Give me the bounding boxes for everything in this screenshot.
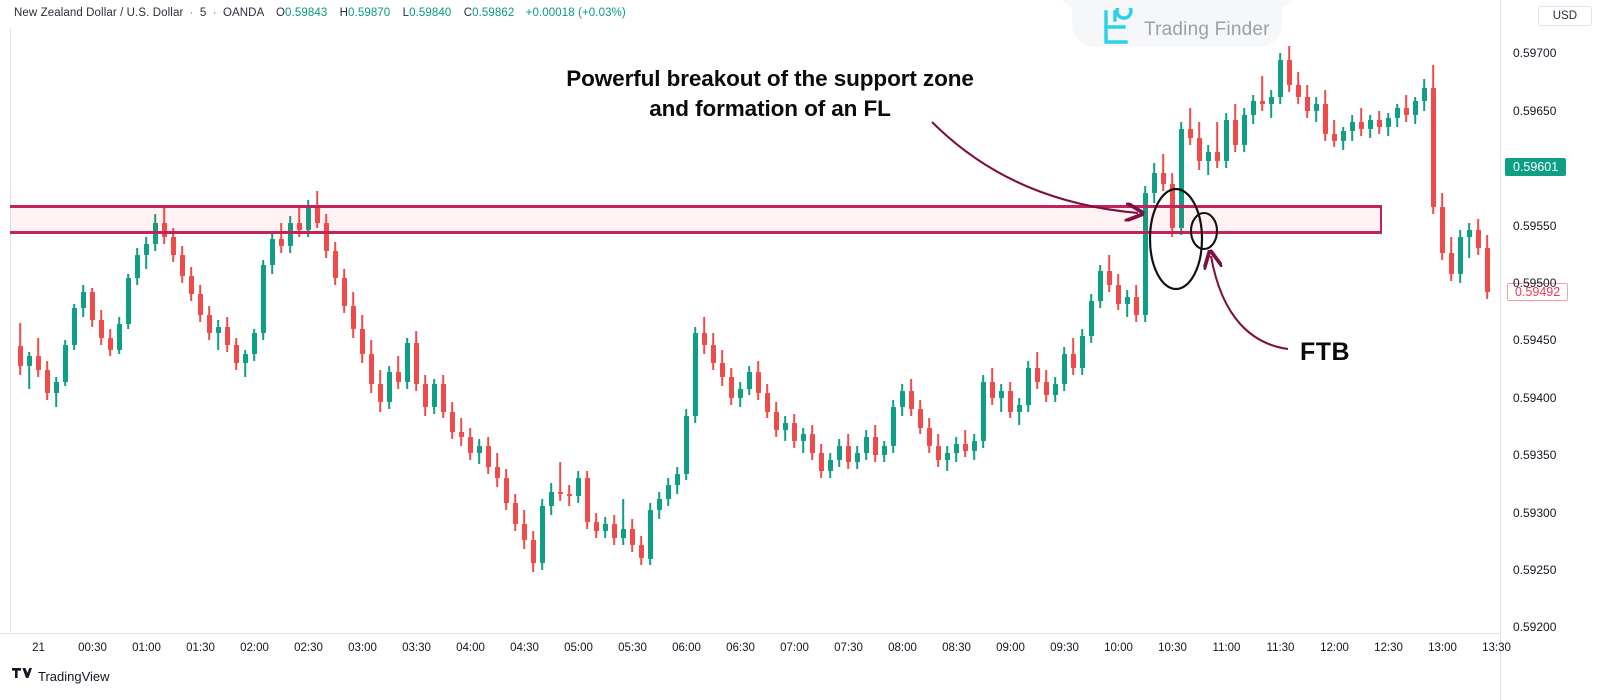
legend-separator-1: · xyxy=(187,7,197,19)
interval-label[interactable]: 5 xyxy=(200,7,207,19)
candle-body xyxy=(1260,101,1266,103)
candle-body xyxy=(675,474,681,485)
candle xyxy=(1278,28,1284,632)
price-tick-label: 0.59350 xyxy=(1513,448,1556,462)
candle xyxy=(1080,28,1086,632)
ohlc-high-value: 0.59870 xyxy=(348,7,390,19)
candle xyxy=(1377,28,1383,632)
candle-body xyxy=(1440,207,1446,253)
candle-body xyxy=(27,356,33,365)
price-tick-label: 0.59700 xyxy=(1513,46,1556,60)
last-price-badge: 0.59601 xyxy=(1505,158,1566,176)
candle xyxy=(225,28,231,632)
candle xyxy=(1485,28,1491,632)
candle-body xyxy=(45,370,51,393)
time-tick-label: 04:30 xyxy=(510,642,539,654)
candle xyxy=(207,28,213,632)
candle-body xyxy=(1422,88,1428,102)
candle-body xyxy=(1467,230,1473,237)
candle-body xyxy=(702,333,708,344)
candle-body xyxy=(558,492,564,494)
candle xyxy=(99,28,105,632)
candle xyxy=(135,28,141,632)
time-tick-label: 10:00 xyxy=(1104,642,1133,654)
candle-body xyxy=(864,437,870,453)
candle-body xyxy=(1008,391,1014,412)
candle-body xyxy=(630,529,636,545)
candle xyxy=(1350,28,1356,632)
candle-body xyxy=(1152,173,1158,194)
candle-body xyxy=(720,363,726,377)
candle-body xyxy=(1026,368,1032,405)
candle-body xyxy=(387,372,393,402)
candle-body xyxy=(63,345,69,382)
candle-body xyxy=(180,255,186,276)
candle-body xyxy=(765,393,771,411)
candle xyxy=(1476,28,1482,632)
candle-wick xyxy=(623,499,625,545)
time-tick-label: 07:00 xyxy=(780,642,809,654)
candle xyxy=(243,28,249,632)
candle xyxy=(1341,28,1347,632)
candle xyxy=(180,28,186,632)
candle xyxy=(306,28,312,632)
candle xyxy=(432,28,438,632)
time-tick-label: 04:00 xyxy=(456,642,485,654)
candle-body xyxy=(1098,271,1104,301)
candle-body xyxy=(72,308,78,345)
tradingview-watermark: TradingView xyxy=(12,668,110,684)
candle-body xyxy=(252,333,258,354)
candle xyxy=(234,28,240,632)
time-tick-label: 01:00 xyxy=(132,642,161,654)
candle-body xyxy=(657,499,663,510)
candle-body xyxy=(486,446,492,467)
candle-body xyxy=(729,377,735,398)
candle-body xyxy=(441,384,447,412)
candle-body xyxy=(540,506,546,563)
candle xyxy=(126,28,132,632)
time-axis[interactable]: 2100:3001:0001:3002:0002:3003:0003:3004:… xyxy=(0,633,1500,663)
candle-body xyxy=(396,372,402,381)
candle-body xyxy=(747,372,753,388)
candle xyxy=(1008,28,1014,632)
candle-body xyxy=(1080,336,1086,368)
time-tick-label: 09:00 xyxy=(996,642,1025,654)
candle xyxy=(378,28,384,632)
candle-body xyxy=(189,276,195,294)
candle-body xyxy=(972,441,978,450)
ohlc-high-label: H xyxy=(340,7,348,19)
candle-body xyxy=(423,384,429,407)
time-tick-label: 02:00 xyxy=(240,642,269,654)
candle-body xyxy=(261,265,267,334)
candle xyxy=(1179,28,1185,632)
candle-body xyxy=(378,384,384,402)
candle xyxy=(117,28,123,632)
candle-body xyxy=(1107,271,1113,285)
candle-body xyxy=(1305,97,1311,111)
candle-body xyxy=(1359,122,1365,129)
candle xyxy=(1431,28,1437,632)
exchange-label: OANDA xyxy=(223,7,264,19)
candle-body xyxy=(81,292,87,308)
candle xyxy=(1026,28,1032,632)
candle xyxy=(1260,28,1266,632)
candle xyxy=(90,28,96,632)
candle-body xyxy=(1242,115,1248,145)
candle xyxy=(54,28,60,632)
candle-body xyxy=(927,428,933,446)
candle-body xyxy=(855,453,861,462)
candle-wick xyxy=(1271,90,1273,118)
price-axis[interactable]: USD 0.59601 0.59492 0.597000.596500.5955… xyxy=(1500,0,1600,700)
candle-body xyxy=(819,453,825,471)
candle-body xyxy=(666,485,672,499)
candle xyxy=(1323,28,1329,632)
candle xyxy=(468,28,474,632)
candle-body xyxy=(126,278,132,324)
candle-body xyxy=(603,524,609,531)
candle xyxy=(486,28,492,632)
candle-body xyxy=(1449,253,1455,274)
breakout-annotation-line2: and formation of an FL xyxy=(540,94,1000,124)
candle xyxy=(1305,28,1311,632)
candle-wick xyxy=(1217,122,1219,168)
candle xyxy=(522,28,528,632)
candle xyxy=(1089,28,1095,632)
candle xyxy=(369,28,375,632)
breakout-annotation-text: Powerful breakout of the support zone an… xyxy=(540,64,1000,124)
candle-body xyxy=(225,327,231,345)
candle xyxy=(1449,28,1455,632)
candle-body xyxy=(243,354,249,363)
candle xyxy=(450,28,456,632)
candle xyxy=(324,28,330,632)
candle xyxy=(171,28,177,632)
candle-body xyxy=(1323,104,1329,134)
candle-wick xyxy=(218,320,220,350)
candle-body xyxy=(459,432,465,437)
candle-body xyxy=(333,251,339,279)
candle xyxy=(1251,28,1257,632)
price-tick-label: 0.59400 xyxy=(1513,391,1556,405)
candle-body xyxy=(1134,297,1140,315)
time-tick-label: 13:30 xyxy=(1482,642,1511,654)
candle xyxy=(1116,28,1122,632)
candle-body xyxy=(1062,354,1068,384)
ohlc-open-value: 0.59843 xyxy=(285,7,327,19)
candle-body xyxy=(1089,301,1095,335)
candle-body xyxy=(936,446,942,460)
candle-body xyxy=(1296,85,1302,96)
candle xyxy=(1233,28,1239,632)
time-tick-label: 01:30 xyxy=(186,642,215,654)
candle xyxy=(1359,28,1365,632)
candle xyxy=(108,28,114,632)
candle xyxy=(1404,28,1410,632)
candle-body xyxy=(1035,368,1041,382)
candle-body xyxy=(531,540,537,563)
candle-body xyxy=(36,356,42,370)
candle-body xyxy=(54,382,60,393)
candle-body xyxy=(576,478,582,496)
candle xyxy=(477,28,483,632)
candle-body xyxy=(432,384,438,407)
time-tick-label: 03:00 xyxy=(348,642,377,654)
time-tick-label: 05:30 xyxy=(618,642,647,654)
candle xyxy=(1296,28,1302,632)
candle-body xyxy=(756,372,762,393)
candle xyxy=(252,28,258,632)
candle-body xyxy=(1233,120,1239,145)
candle xyxy=(72,28,78,632)
candle-body xyxy=(846,446,852,462)
candle xyxy=(1161,28,1167,632)
candle-body xyxy=(1071,354,1077,368)
candle-body xyxy=(144,244,150,255)
candle xyxy=(360,28,366,632)
candle xyxy=(1044,28,1050,632)
price-tick-label: 0.59650 xyxy=(1513,104,1556,118)
candle-body xyxy=(828,460,834,471)
candle xyxy=(441,28,447,632)
time-tick-label: 12:30 xyxy=(1374,642,1403,654)
candle-body xyxy=(1269,97,1275,104)
breakout-annotation-line1: Powerful breakout of the support zone xyxy=(540,64,1000,94)
price-tick-label: 0.59550 xyxy=(1513,219,1556,233)
candle-body xyxy=(1350,122,1356,131)
candle-wick xyxy=(1262,76,1264,110)
candle xyxy=(1287,28,1293,632)
candle-body xyxy=(171,237,177,255)
candle xyxy=(1440,28,1446,632)
time-tick-label: 13:00 xyxy=(1428,642,1457,654)
candle xyxy=(1062,28,1068,632)
candle-body xyxy=(1224,120,1230,161)
candle-body xyxy=(783,423,789,430)
candle-body xyxy=(1368,120,1374,129)
candle xyxy=(1152,28,1158,632)
candle xyxy=(396,28,402,632)
candle xyxy=(1170,28,1176,632)
candle xyxy=(1269,28,1275,632)
candle xyxy=(1098,28,1104,632)
candle xyxy=(531,28,537,632)
legend-separator-2: · xyxy=(210,7,220,19)
candle-body xyxy=(18,346,24,366)
candle-body xyxy=(1287,60,1293,85)
candle-wick xyxy=(1469,223,1471,257)
candle xyxy=(27,28,33,632)
ohlc-close: C0.59862 xyxy=(464,7,515,19)
candle-body xyxy=(99,320,105,338)
time-tick-label: 10:30 xyxy=(1158,642,1187,654)
candle xyxy=(405,28,411,632)
candle-body xyxy=(909,391,915,409)
time-tick-label: 02:30 xyxy=(294,642,323,654)
candle xyxy=(1458,28,1464,632)
candle xyxy=(1143,28,1149,632)
candle xyxy=(270,28,276,632)
chart-legend: New Zealand Dollar / U.S. Dollar · 5 · O… xyxy=(14,7,626,19)
ohlc-close-value: 0.59862 xyxy=(472,7,514,19)
symbol-name[interactable]: New Zealand Dollar / U.S. Dollar xyxy=(14,7,183,19)
candle xyxy=(261,28,267,632)
candle-body xyxy=(990,382,996,398)
candle-body xyxy=(774,412,780,430)
candle-body xyxy=(1053,384,1059,395)
candle-body xyxy=(1485,248,1491,292)
time-tick-label: 08:30 xyxy=(942,642,971,654)
candle xyxy=(315,28,321,632)
candle-body xyxy=(360,329,366,354)
candle xyxy=(63,28,69,632)
candle-body xyxy=(1377,120,1383,127)
candle xyxy=(1314,28,1320,632)
candle-body xyxy=(117,324,123,349)
candle-body xyxy=(342,278,348,306)
candle-wick xyxy=(1001,384,1003,412)
candle-body xyxy=(612,524,618,538)
candle-body xyxy=(594,522,600,531)
tradingview-label: TradingView xyxy=(38,669,110,684)
time-tick-label: 09:30 xyxy=(1050,642,1079,654)
candle-body xyxy=(1341,131,1347,140)
candle xyxy=(414,28,420,632)
candle-body xyxy=(549,492,555,506)
candle-body xyxy=(1476,230,1482,248)
candle xyxy=(459,28,465,632)
currency-badge[interactable]: USD xyxy=(1538,6,1592,26)
candle xyxy=(1422,28,1428,632)
candle-body xyxy=(405,343,411,382)
candle xyxy=(1188,28,1194,632)
candle-body xyxy=(468,437,474,453)
price-tick-label: 0.59200 xyxy=(1513,620,1556,634)
candle-body xyxy=(900,391,906,407)
candle-body xyxy=(999,391,1005,398)
ohlc-high: H0.59870 xyxy=(340,7,391,19)
time-tick-label: 03:30 xyxy=(402,642,431,654)
candle-body xyxy=(1161,173,1167,184)
candle xyxy=(1197,28,1203,632)
price-tick-label: 0.59450 xyxy=(1513,333,1556,347)
candle xyxy=(1215,28,1221,632)
time-tick-label: 06:30 xyxy=(726,642,755,654)
ohlc-close-label: C xyxy=(464,7,472,19)
candle xyxy=(495,28,501,632)
candle xyxy=(1413,28,1419,632)
candle xyxy=(1134,28,1140,632)
time-tick-label: 11:30 xyxy=(1267,642,1295,654)
candle-body xyxy=(1386,118,1392,127)
candle-body xyxy=(1044,382,1050,396)
candle xyxy=(504,28,510,632)
candle-body xyxy=(1251,101,1257,115)
candle-body xyxy=(522,524,528,540)
candle-body xyxy=(1017,405,1023,412)
candle-body xyxy=(981,382,987,442)
candle-body xyxy=(135,255,141,278)
candle-body xyxy=(234,345,240,363)
candle-body xyxy=(792,423,798,441)
candle-body xyxy=(621,529,627,538)
candle-body xyxy=(684,416,690,473)
candle xyxy=(81,28,87,632)
candle-body xyxy=(1395,108,1401,117)
candle-body xyxy=(1413,101,1419,115)
time-tick-label: 08:00 xyxy=(888,642,917,654)
candle xyxy=(216,28,222,632)
price-change: +0.00018 (+0.03%) xyxy=(526,7,626,19)
time-tick-label: 11:00 xyxy=(1213,642,1241,654)
candle-body xyxy=(837,446,843,460)
candle-wick xyxy=(1127,290,1129,318)
candle xyxy=(423,28,429,632)
candle xyxy=(387,28,393,632)
candle-body xyxy=(351,306,357,329)
candle xyxy=(198,28,204,632)
candle xyxy=(189,28,195,632)
ohlc-open: O0.59843 xyxy=(276,7,327,19)
time-tick-label: 12:00 xyxy=(1320,642,1349,654)
candle xyxy=(1224,28,1230,632)
candle-body xyxy=(918,409,924,427)
tradingview-logo-icon xyxy=(12,668,32,684)
candle xyxy=(333,28,339,632)
candle-body xyxy=(414,343,420,384)
time-tick-label: 06:00 xyxy=(672,642,701,654)
candle xyxy=(1368,28,1374,632)
candle xyxy=(36,28,42,632)
candle xyxy=(1107,28,1113,632)
candle-body xyxy=(495,467,501,478)
ohlc-open-label: O xyxy=(276,7,285,19)
ftb-annotation-label: FTB xyxy=(1300,338,1350,367)
candle-body xyxy=(1314,104,1320,111)
candle-body xyxy=(1206,152,1212,161)
candle-wick xyxy=(560,462,562,501)
candle-body xyxy=(279,239,285,246)
candle-body xyxy=(1197,138,1203,161)
candle-body xyxy=(810,434,816,452)
price-tick-label: 0.59500 xyxy=(1513,276,1556,290)
support-zone-rectangle[interactable] xyxy=(10,205,1382,234)
candle-body xyxy=(585,478,591,522)
candle xyxy=(1035,28,1041,632)
candle xyxy=(297,28,303,632)
candle-body xyxy=(1215,152,1221,161)
candle xyxy=(1395,28,1401,632)
candle xyxy=(1206,28,1212,632)
chart-screenshot: New Zealand Dollar / U.S. Dollar · 5 · O… xyxy=(0,0,1600,700)
candle xyxy=(1467,28,1473,632)
price-tick-label: 0.59300 xyxy=(1513,506,1556,520)
candle xyxy=(1386,28,1392,632)
candle-wick xyxy=(1190,108,1192,145)
candle xyxy=(18,28,24,632)
candle-body xyxy=(1332,134,1338,141)
candle-body xyxy=(198,294,204,315)
candle-body xyxy=(90,292,96,320)
candle-body xyxy=(873,437,879,455)
candle-body xyxy=(882,446,888,455)
candle-body xyxy=(1404,108,1410,115)
candle-body xyxy=(639,545,645,559)
candle-body xyxy=(963,444,969,451)
candle-body xyxy=(207,315,213,333)
